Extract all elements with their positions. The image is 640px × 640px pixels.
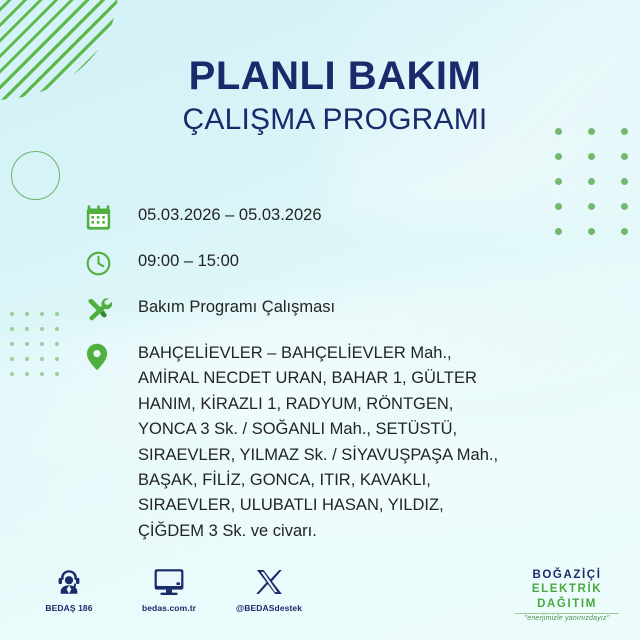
company-tagline: "enerjimizle yanınızdayız"	[508, 615, 626, 622]
contact-channels: BEDAŞ 186 bedas.com.tr	[28, 566, 310, 613]
company-name-line1: BOĞAZİÇİ	[508, 568, 626, 582]
contact-x-account[interactable]: @BEDASdestek	[228, 566, 310, 613]
contact-x-label: @BEDASdestek	[228, 603, 310, 613]
page-title: PLANLI BAKIM	[140, 56, 530, 98]
company-logo: BOĞAZİÇİ ELEKTRİK DAĞITIM "enerjimizle y…	[508, 568, 626, 622]
x-twitter-icon	[228, 566, 310, 598]
company-name-line2: ELEKTRİK	[508, 582, 626, 596]
clock-icon	[86, 249, 138, 277]
stripe-pattern	[0, 0, 118, 100]
detail-row-location: BAHÇELİEVLER – BAHÇELİEVLER Mah., AMİRAL…	[86, 341, 566, 544]
page-subtitle: ÇALIŞMA PROGRAMI	[140, 102, 530, 138]
dot-grid-right-decoration	[555, 128, 640, 253]
tools-icon	[86, 295, 138, 323]
contact-website-label: bedas.com.tr	[128, 603, 210, 613]
detail-row-time: 09:00 – 15:00	[86, 249, 566, 277]
contact-call-center[interactable]: BEDAŞ 186	[28, 566, 110, 613]
contact-website[interactable]: bedas.com.tr	[128, 566, 210, 613]
poster-footer: BEDAŞ 186 bedas.com.tr	[0, 566, 640, 626]
dot-grid-left-decoration	[10, 312, 70, 387]
detail-row-work-type: Bakım Programı Çalışması	[86, 295, 566, 323]
maintenance-details: 05.03.2026 – 05.03.2026 09:00 – 15:00	[86, 203, 566, 544]
date-range-text: 05.03.2026 – 05.03.2026	[138, 203, 322, 224]
planned-maintenance-poster: PLANLI BAKIM ÇALIŞMA PROGRAMI	[0, 0, 640, 640]
time-range-text: 09:00 – 15:00	[138, 249, 239, 270]
detail-row-date: 05.03.2026 – 05.03.2026	[86, 203, 566, 231]
work-type-text: Bakım Programı Çalışması	[138, 295, 335, 316]
calendar-icon	[86, 203, 138, 231]
diagonal-stripes-decoration	[0, 0, 118, 100]
monitor-website-icon	[128, 566, 210, 598]
logo-divider	[515, 613, 619, 614]
contact-call-center-label: BEDAŞ 186	[28, 603, 110, 613]
poster-header: PLANLI BAKIM ÇALIŞMA PROGRAMI	[140, 56, 530, 138]
affected-area-text: BAHÇELİEVLER – BAHÇELİEVLER Mah., AMİRAL…	[138, 341, 498, 544]
outline-circle-decoration	[11, 151, 60, 200]
headset-support-icon	[28, 566, 110, 598]
company-name-line3: DAĞITIM	[508, 597, 626, 611]
location-pin-icon	[86, 341, 138, 371]
